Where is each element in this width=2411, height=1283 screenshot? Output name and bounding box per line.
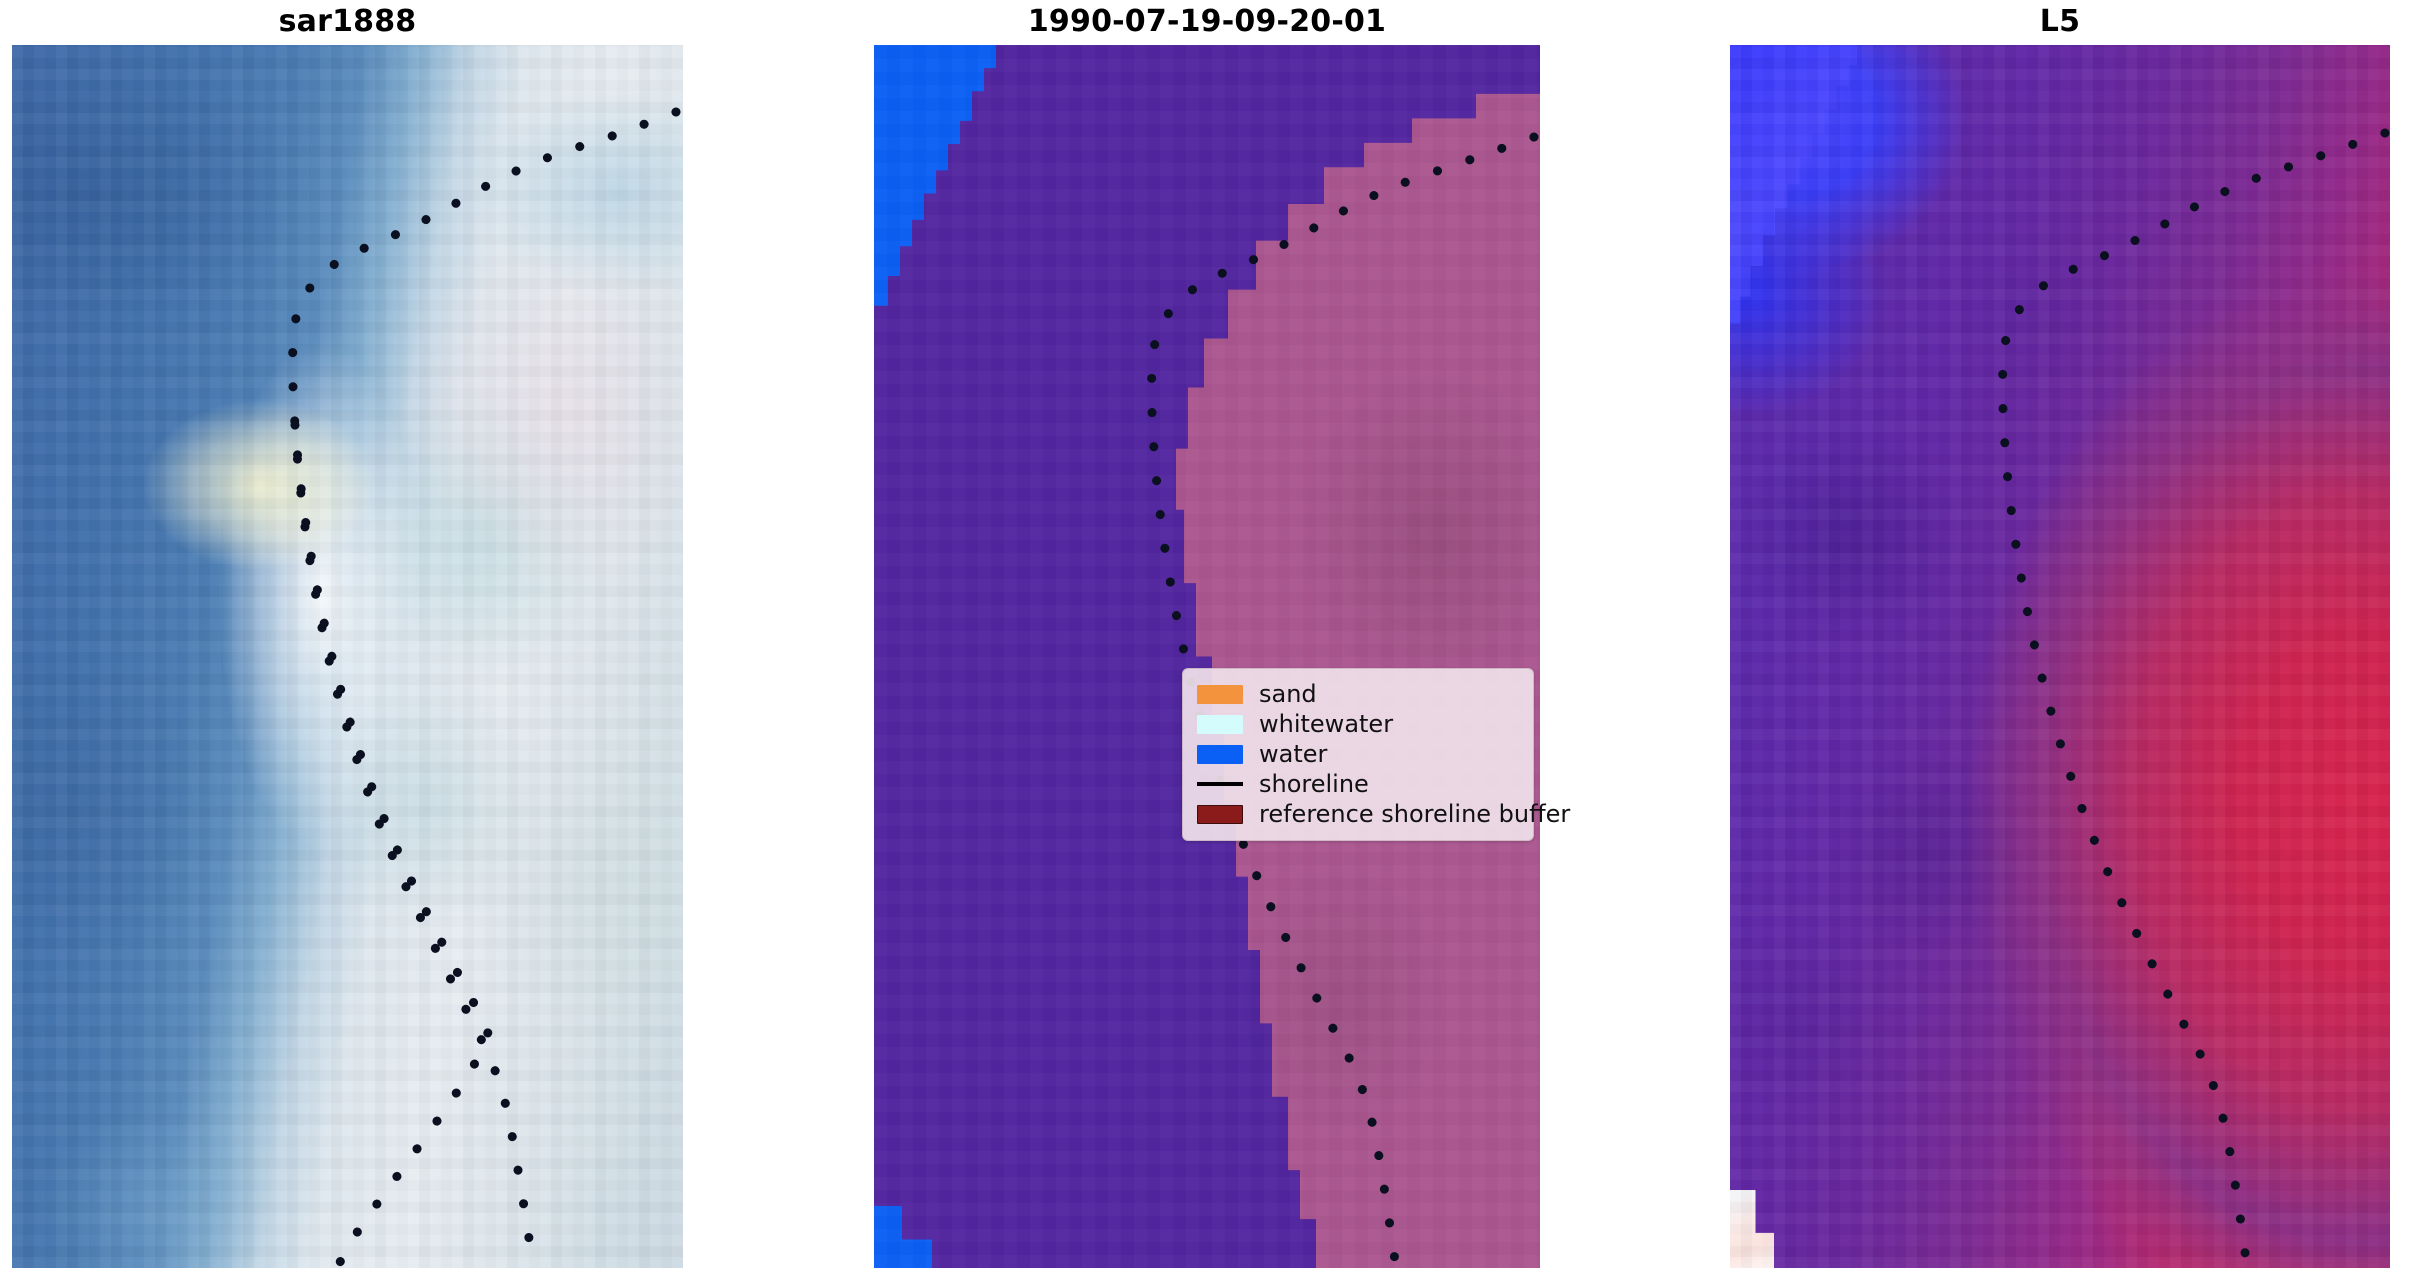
panel-classification xyxy=(874,45,1540,1268)
panel-title-sar1888: sar1888 xyxy=(12,3,683,41)
legend-label-shoreline: shoreline xyxy=(1259,772,1369,796)
legend-label-reference-buffer: reference shoreline buffer xyxy=(1259,802,1570,826)
water-swatch-icon xyxy=(1197,745,1243,764)
legend-label-sand: sand xyxy=(1259,682,1317,706)
whitewater-swatch-icon xyxy=(1197,715,1243,734)
legend-label-water: water xyxy=(1259,742,1327,766)
legend-box: sand whitewater water shoreline referenc… xyxy=(1182,668,1534,841)
reference-buffer-swatch-icon xyxy=(1197,805,1243,824)
legend-item-water[interactable]: water xyxy=(1197,739,1521,769)
panel-title-l5: L5 xyxy=(1730,3,2390,41)
legend-item-shoreline[interactable]: shoreline xyxy=(1197,769,1521,799)
sand-swatch-icon xyxy=(1197,685,1243,704)
legend-item-reference-buffer[interactable]: reference shoreline buffer xyxy=(1197,799,1521,829)
figure-canvas: sar1888 1990-07-19-09-20-01 L5 xyxy=(0,0,2411,1283)
shoreline-line-icon xyxy=(1197,782,1243,786)
panel-sar1888 xyxy=(12,45,683,1268)
l5-index-shading xyxy=(1730,45,2390,1268)
panel-l5 xyxy=(1730,45,2390,1268)
legend-item-whitewater[interactable]: whitewater xyxy=(1197,709,1521,739)
legend-label-whitewater: whitewater xyxy=(1259,712,1393,736)
sar-image-shading xyxy=(12,45,683,1268)
legend-item-sand[interactable]: sand xyxy=(1197,679,1521,709)
panel-title-classification: 1990-07-19-09-20-01 xyxy=(874,3,1540,41)
